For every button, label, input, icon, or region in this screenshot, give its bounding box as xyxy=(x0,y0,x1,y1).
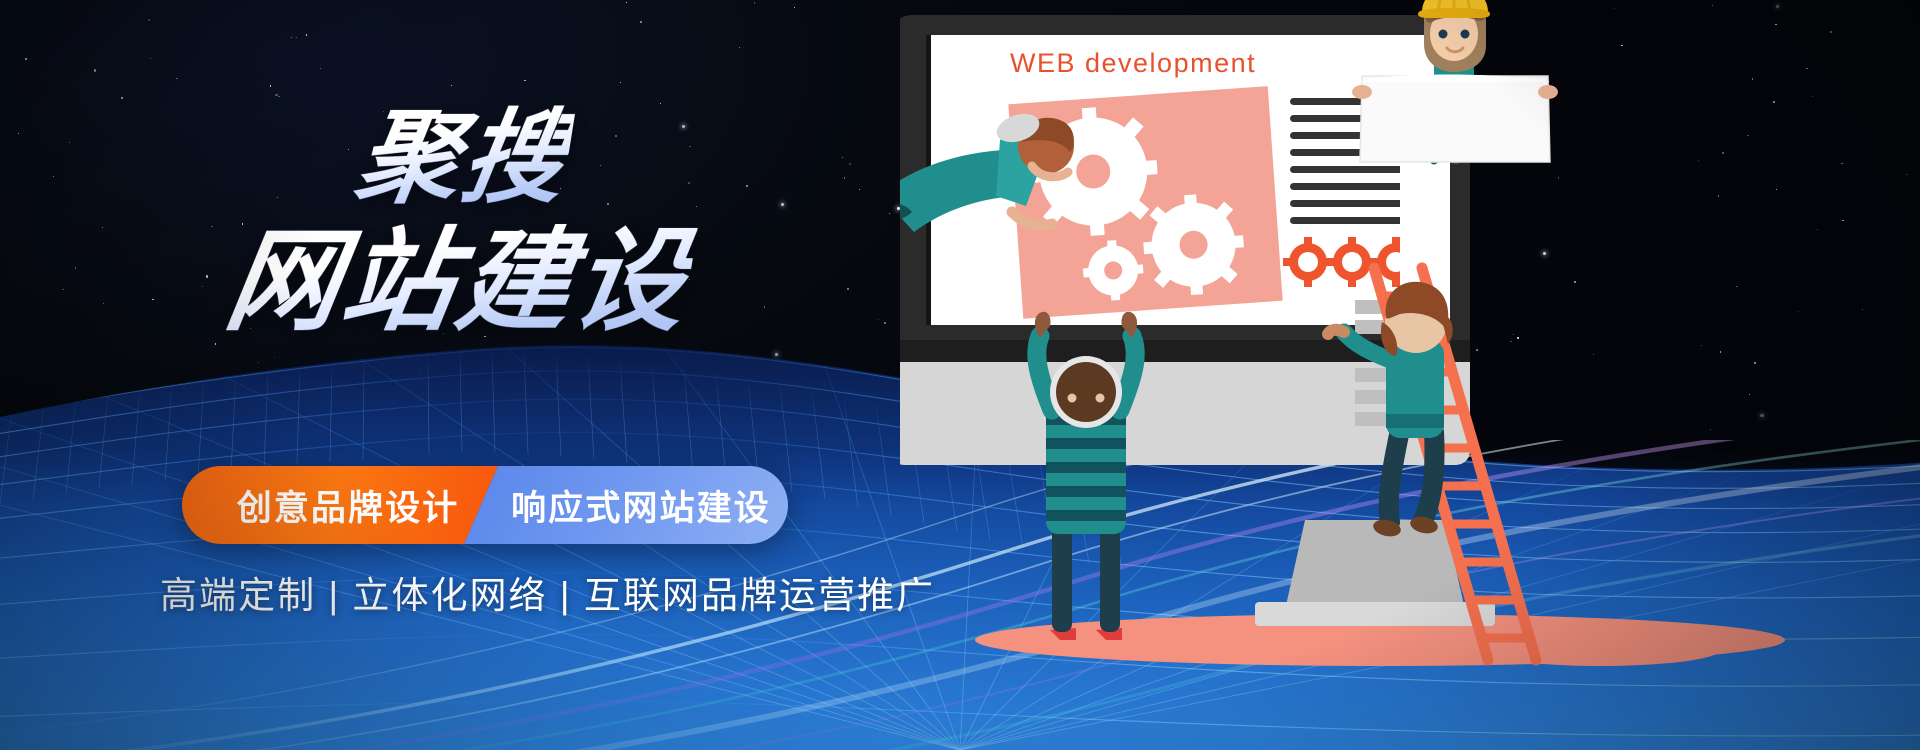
service-pills: 创意品牌设计 响应式网站建设 xyxy=(182,466,822,544)
brand-title-line1: 聚搜 xyxy=(349,103,577,213)
screen-heading: WEB development xyxy=(1010,48,1256,78)
monitor-stand xyxy=(1285,520,1465,610)
tagline: 高端定制 | 立体化网络 | 互联网品牌运营推广 xyxy=(160,565,935,619)
hero-banner: WEB development xyxy=(0,0,1920,750)
pill-creative-brand-design[interactable]: 创意品牌设计 xyxy=(182,466,498,544)
brand-title-line2: 网站建设 xyxy=(218,222,699,343)
web-development-illustration: WEB development xyxy=(900,0,1920,750)
pill-responsive-web-build[interactable]: 响应式网站建设 xyxy=(464,466,788,544)
headline-block: 聚搜 网站建设 创意品牌设计 响应式网站建设 高端定制 | 立体化网络 | 互联… xyxy=(0,0,900,750)
